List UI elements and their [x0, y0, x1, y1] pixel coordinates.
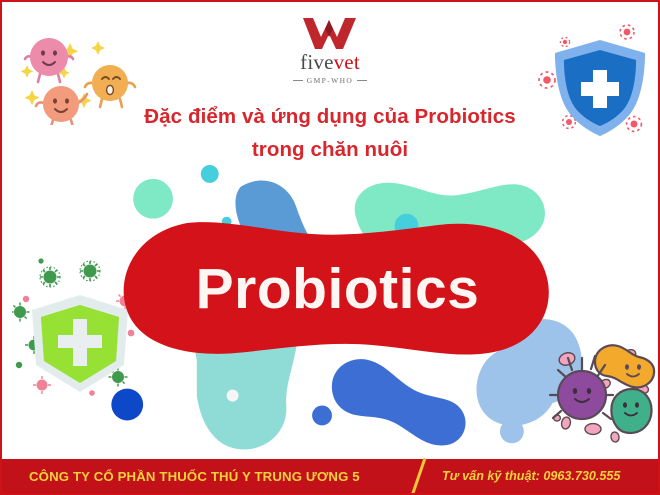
probiotics-banner: Probiotics	[120, 221, 555, 356]
footer-bar: CÔNG TY CỔ PHẦN THUỐC THÚ Y TRUNG ƯƠNG 5…	[2, 459, 658, 493]
brand-wordmark-second: vet	[334, 50, 360, 74]
banner-label: Probiotics	[120, 221, 555, 356]
purple-spiky-bacterium	[550, 356, 613, 419]
poster-canvas: fivevet GMP-WHO Đặc điểm và ứng dụng của…	[0, 0, 660, 495]
certification-dash-left	[293, 80, 303, 81]
footer-divider-slash	[411, 458, 427, 495]
brand-certification: GMP-WHO	[293, 76, 367, 85]
footer-hotline: Tư vấn kỹ thuật: 0963.730.555	[442, 469, 620, 483]
brand-logo: fivevet GMP-WHO	[2, 16, 658, 85]
brand-wordmark: fivevet	[300, 52, 360, 73]
page-title: Đặc điểm và ứng dụng của Probiotics tron…	[2, 100, 658, 166]
royal-blue-circle-small	[312, 406, 332, 426]
cyan-circle-top	[201, 165, 219, 183]
light-blue-circle-small	[500, 419, 524, 443]
white-dot-on-aqua	[227, 390, 239, 402]
light-blue-blob-lower-right	[476, 345, 557, 426]
page-title-line-1: Đặc điểm và ứng dụng của Probiotics	[2, 100, 658, 133]
green-blob-bacterium	[611, 389, 651, 433]
cartoon-bacteria-characters	[547, 337, 657, 457]
certification-dash-right	[357, 80, 367, 81]
fivevet-chevron-logo-icon	[300, 16, 360, 50]
footer-company-name: CÔNG TY CỔ PHẦN THUỐC THÚ Y TRUNG ƯƠNG 5	[29, 469, 360, 484]
page-title-line-2: trong chăn nuôi	[2, 133, 658, 166]
mint-circle-large	[133, 179, 173, 219]
certification-label: GMP-WHO	[307, 76, 353, 85]
brand-wordmark-first: five	[300, 50, 333, 74]
royal-blue-peanut	[332, 359, 466, 445]
